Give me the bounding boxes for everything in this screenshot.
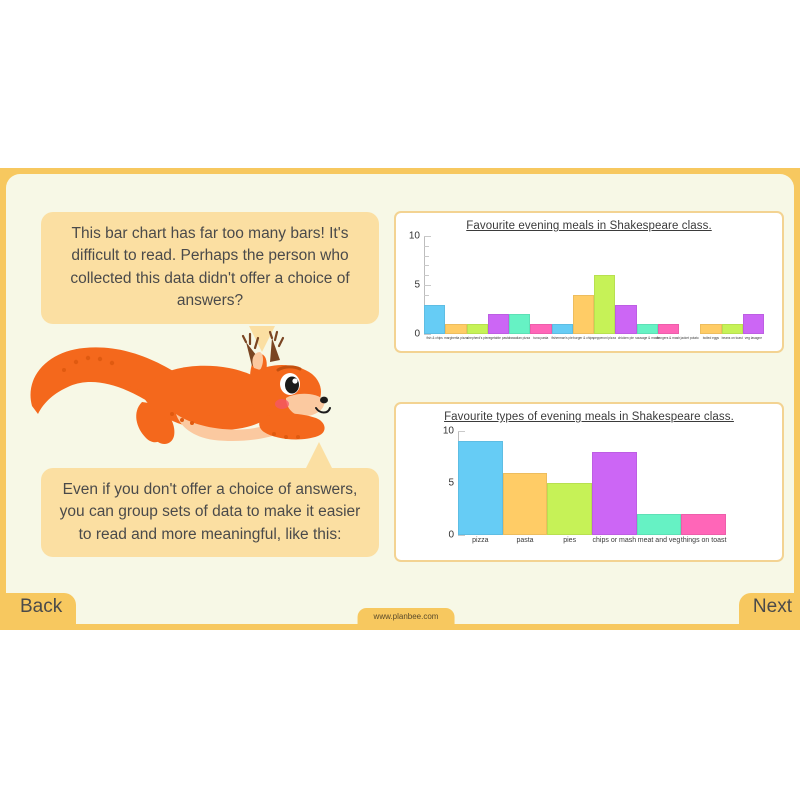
chart-bar <box>488 314 509 334</box>
site-url: www.planbee.com <box>358 608 455 624</box>
next-button[interactable]: Next <box>739 593 800 624</box>
x-axis-label: veg lasagne <box>745 336 762 340</box>
x-axis-label: burger & chips <box>573 336 594 340</box>
x-axis-label: chicken pie <box>618 336 634 340</box>
x-axis-label: things on toast <box>681 537 727 544</box>
chart-bar <box>547 483 592 535</box>
chart-bar <box>467 324 488 334</box>
slide-frame: This bar chart has far too many bars! It… <box>0 168 800 630</box>
chart-grouped-plot: 0510pizzapastapieschips or mashmeat and … <box>396 423 786 555</box>
x-axis-label: pies <box>563 537 576 544</box>
speech-bubble-bottom-tail <box>306 442 332 468</box>
speech-bubble-top: This bar chart has far too many bars! It… <box>41 212 379 324</box>
chart-grouped-title: Favourite types of evening meals in Shak… <box>396 404 782 423</box>
speech-bubble-bottom: Even if you don't offer a choice of answ… <box>41 468 379 557</box>
chart-bar <box>458 441 503 535</box>
back-button[interactable]: Back <box>6 593 76 624</box>
chart-bar <box>594 275 615 334</box>
x-axis-label: sausage & mash <box>635 336 659 340</box>
chart-bar <box>722 324 743 334</box>
chart-panel-grouped: Favourite types of evening meals in Shak… <box>394 402 784 562</box>
chart-bar <box>681 514 726 535</box>
y-axis-tick <box>424 236 431 237</box>
chart-bar <box>509 314 530 334</box>
x-axis-label: pepperoni pizza <box>593 336 616 340</box>
slide-content: This bar chart has far too many bars! It… <box>6 174 794 624</box>
slide-footer: Back www.planbee.com Next <box>6 590 800 624</box>
x-axis-label: pasta <box>516 537 533 544</box>
y-axis-tick <box>458 535 465 536</box>
y-axis-tick <box>458 431 465 432</box>
speech-bubble-top-text: This bar chart has far too many bars! It… <box>55 223 365 313</box>
x-axis-label: vegetable pasta <box>487 336 510 340</box>
y-axis-tick <box>424 285 431 286</box>
chart-bar <box>637 514 682 535</box>
chart-bar <box>592 452 637 535</box>
squirrel-mascot <box>24 326 354 471</box>
chart-detailed-plot: 0510fish & chipsmargherita pizzashepherd… <box>396 232 786 348</box>
x-axis-label: fisherman's pie <box>551 336 572 340</box>
y-axis-label: 0 <box>396 530 454 541</box>
chart-bar <box>637 324 658 334</box>
x-axis-label: shepherd's pie <box>467 336 488 340</box>
y-axis-label: 5 <box>396 280 420 291</box>
x-axis-label: meat and veg <box>638 537 680 544</box>
x-axis-label: beans on toast <box>722 336 743 340</box>
y-axis-tick <box>424 334 431 335</box>
chart-bar <box>503 473 548 535</box>
y-axis-tick <box>424 275 429 276</box>
x-axis-label: tuna pasta <box>533 336 548 340</box>
chart-bar <box>658 324 679 334</box>
y-axis-tick <box>424 246 429 247</box>
x-axis-label: jacket potato <box>681 336 699 340</box>
chart-panel-detailed: Favourite evening meals in Shakespeare c… <box>394 211 784 353</box>
x-axis-label: margherita pizza <box>444 336 468 340</box>
x-axis-label: hawaiian pizza <box>509 336 530 340</box>
chart-bar <box>573 295 594 334</box>
chart-bar <box>445 324 466 334</box>
y-axis-tick <box>424 295 429 296</box>
chart-bar <box>424 305 445 334</box>
chart-detailed-title: Favourite evening meals in Shakespeare c… <box>396 213 782 232</box>
y-axis-label: 10 <box>396 426 454 437</box>
y-axis-tick <box>424 265 429 266</box>
speech-bubble-bottom-text: Even if you don't offer a choice of answ… <box>55 479 365 546</box>
chart-bar <box>615 305 636 334</box>
y-axis-label: 10 <box>396 231 420 242</box>
chart-bar <box>743 314 764 334</box>
x-axis-label: chips or mash <box>593 537 637 544</box>
chart-bar <box>552 324 573 334</box>
chart-bar <box>530 324 551 334</box>
chart-bar <box>700 324 721 334</box>
x-axis-label: boiled eggs <box>703 336 719 340</box>
y-axis-label: 0 <box>396 329 420 340</box>
x-axis-label: bangers & mash <box>657 336 680 340</box>
y-axis-label: 5 <box>396 478 454 489</box>
y-axis-tick <box>424 256 429 257</box>
x-axis-label: fish & chips <box>426 336 442 340</box>
x-axis-label: pizza <box>472 537 488 544</box>
